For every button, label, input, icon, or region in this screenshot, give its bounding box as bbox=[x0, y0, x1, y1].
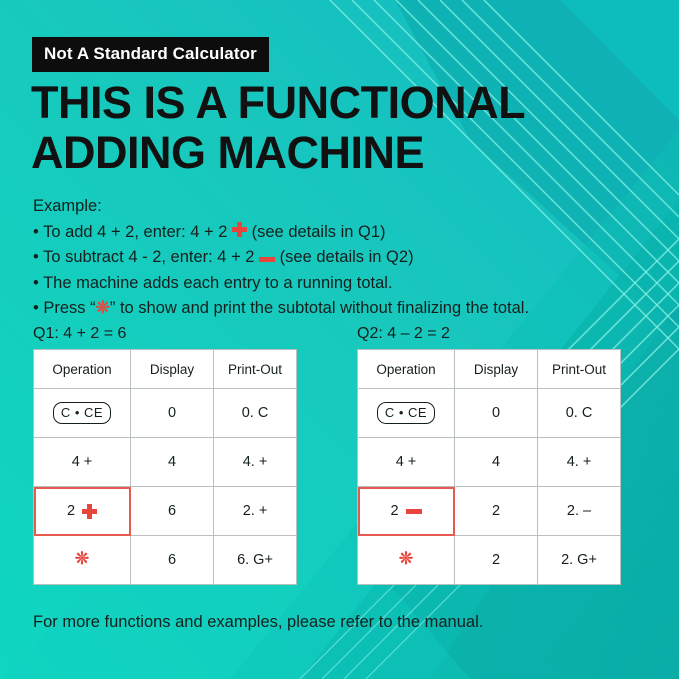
column-header-display: Display bbox=[455, 350, 538, 389]
example-block: Example: • To add 4 + 2, enter: 4 + 2 (s… bbox=[33, 194, 658, 322]
cell-display: 4 bbox=[455, 438, 538, 487]
example-bullet-add-note: (see details in Q1) bbox=[252, 223, 386, 241]
cell-printout: 0. C bbox=[538, 389, 621, 438]
operation-key-group: 2 bbox=[67, 503, 97, 519]
cell-display: 0 bbox=[131, 389, 214, 438]
c-ce-key: C • CE bbox=[53, 402, 111, 424]
cell-printout: 4. + bbox=[538, 438, 621, 487]
cell-operation: C • CE bbox=[358, 389, 455, 438]
table-q2-wrapper: Q2: 4 – 2 = 2 Operation Display Print-Ou… bbox=[357, 325, 621, 585]
minus-key-icon bbox=[259, 257, 275, 262]
example-bullet-add: • To add 4 + 2, enter: 4 + 2 (see detail… bbox=[33, 220, 658, 246]
cell-printout: 2. G+ bbox=[538, 536, 621, 585]
cell-operation: 2 bbox=[34, 487, 131, 536]
plus-key-icon bbox=[232, 222, 247, 237]
footer-note: For more functions and examples, please … bbox=[33, 613, 483, 632]
cell-printout: 2. – bbox=[538, 487, 621, 536]
table-row: C • CE 0 0. C bbox=[34, 389, 297, 438]
column-header-operation: Operation bbox=[358, 350, 455, 389]
minus-key-icon bbox=[406, 509, 422, 514]
table-q2: Operation Display Print-Out C • CE 0 0. … bbox=[357, 349, 621, 585]
example-bullet-subtract-note: (see details in Q2) bbox=[280, 248, 414, 266]
table-row-header: Operation Display Print-Out bbox=[34, 350, 297, 389]
page-title: THIS IS A FUNCTIONAL ADDING MACHINE bbox=[31, 78, 651, 178]
star-key-icon: ❊ bbox=[399, 552, 413, 566]
table-row: C • CE 0 0. C bbox=[358, 389, 621, 438]
cell-operation: C • CE bbox=[34, 389, 131, 438]
star-key-icon: ❊ bbox=[96, 301, 110, 315]
headline-line-2: ADDING MACHINE bbox=[31, 128, 651, 178]
cell-operation: ❊ bbox=[34, 536, 131, 585]
example-bullet-subtract-text: • To subtract 4 - 2, enter: 4 + 2 bbox=[33, 248, 254, 266]
cell-printout: 6. G+ bbox=[214, 536, 297, 585]
headline-line-1: THIS IS A FUNCTIONAL bbox=[31, 78, 651, 128]
cell-display: 6 bbox=[131, 536, 214, 585]
column-header-printout: Print-Out bbox=[538, 350, 621, 389]
column-header-operation: Operation bbox=[34, 350, 131, 389]
example-bullet-subtract: • To subtract 4 - 2, enter: 4 + 2 (see d… bbox=[33, 245, 658, 271]
operation-digit: 2 bbox=[67, 503, 75, 519]
cell-display: 6 bbox=[131, 487, 214, 536]
table-row: ❊ 6 6. G+ bbox=[34, 536, 297, 585]
cell-display: 2 bbox=[455, 487, 538, 536]
cell-operation: ❊ bbox=[358, 536, 455, 585]
c-ce-key: C • CE bbox=[377, 402, 435, 424]
example-bullet-subtotal-post: ” to show and print the subtotal without… bbox=[110, 299, 529, 317]
column-header-printout: Print-Out bbox=[214, 350, 297, 389]
badge-not-a-standard-calculator: Not A Standard Calculator bbox=[32, 37, 269, 72]
cell-display: 2 bbox=[455, 536, 538, 585]
cell-printout: 4. + bbox=[214, 438, 297, 487]
operation-digit: 2 bbox=[390, 503, 398, 519]
table-q1: Operation Display Print-Out C • CE 0 0. … bbox=[33, 349, 297, 585]
table-row-highlighted: 2 6 2. + bbox=[34, 487, 297, 536]
table-row-header: Operation Display Print-Out bbox=[358, 350, 621, 389]
cell-printout: 2. + bbox=[214, 487, 297, 536]
cell-operation: 4 + bbox=[34, 438, 131, 487]
example-heading: Example: bbox=[33, 194, 658, 220]
table-q1-title: Q1: 4 + 2 = 6 bbox=[33, 325, 297, 343]
table-row: 4 + 4 4. + bbox=[358, 438, 621, 487]
cell-display: 0 bbox=[455, 389, 538, 438]
table-row-highlighted: 2 2 2. – bbox=[358, 487, 621, 536]
plus-key-icon bbox=[82, 504, 97, 519]
column-header-display: Display bbox=[131, 350, 214, 389]
cell-display: 4 bbox=[131, 438, 214, 487]
example-bullet-running-total: • The machine adds each entry to a runni… bbox=[33, 271, 658, 297]
table-row: ❊ 2 2. G+ bbox=[358, 536, 621, 585]
example-bullet-add-text: • To add 4 + 2, enter: 4 + 2 bbox=[33, 223, 227, 241]
table-q1-wrapper: Q1: 4 + 2 = 6 Operation Display Print-Ou… bbox=[33, 325, 297, 585]
table-row: 4 + 4 4. + bbox=[34, 438, 297, 487]
example-bullet-subtotal-pre: • Press “ bbox=[33, 299, 96, 317]
cell-operation: 2 bbox=[358, 487, 455, 536]
example-bullet-subtotal: • Press “❊” to show and print the subtot… bbox=[33, 296, 658, 322]
cell-operation: 4 + bbox=[358, 438, 455, 487]
star-key-icon: ❊ bbox=[75, 552, 89, 566]
operation-key-group: 2 bbox=[390, 503, 421, 519]
table-q2-title: Q2: 4 – 2 = 2 bbox=[357, 325, 621, 343]
cell-printout: 0. C bbox=[214, 389, 297, 438]
